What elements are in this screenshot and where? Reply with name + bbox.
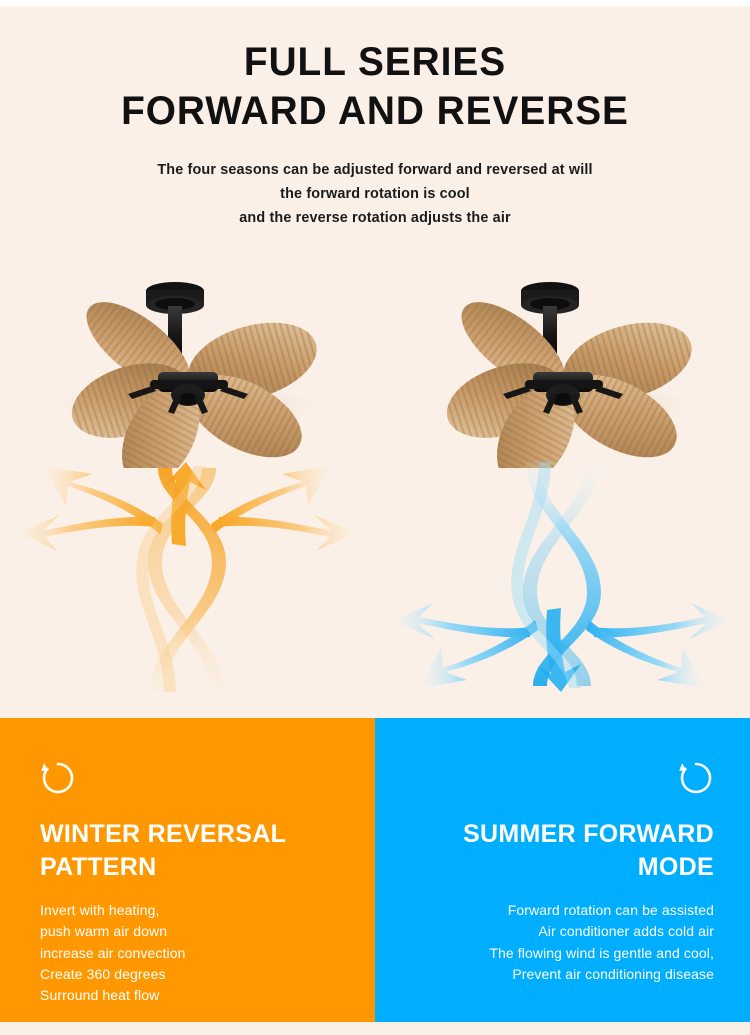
- winter-panel-body: Invert with heating, push warm air down …: [40, 900, 339, 1006]
- upward-airflow-diagram: [0, 462, 375, 692]
- winter-reversal-panel: WINTER REVERSAL PATTERN Invert with heat…: [0, 718, 375, 1022]
- counterclockwise-rotate-icon: [678, 760, 714, 796]
- airflow-ribbon-group: [511, 462, 601, 688]
- counterclockwise-rotate-icon: [40, 760, 76, 796]
- winter-panel-title: WINTER REVERSAL PATTERN: [40, 818, 339, 884]
- winter-body-line-5: Surround heat flow: [40, 985, 339, 1006]
- right-airflow-image: [375, 462, 750, 692]
- airflow-arrow-right: [218, 515, 356, 551]
- summer-body-line-1: Forward rotation can be assisted: [415, 900, 714, 921]
- palm-blade-ceiling-fan-graphic: [0, 268, 375, 468]
- airflow-arrow-left: [393, 603, 531, 639]
- downward-airflow-diagram: [375, 462, 750, 692]
- summer-body-line-2: Air conditioner adds cold air: [415, 921, 714, 942]
- airflow-arrow-right: [593, 603, 731, 639]
- left-airflow-image: [0, 462, 375, 692]
- left-illustration-half: [0, 250, 375, 718]
- winter-body-line-2: push warm air down: [40, 921, 339, 942]
- summer-panel-title: SUMMER FORWARD MODE: [415, 818, 714, 884]
- winter-body-line-3: increase air convection: [40, 943, 339, 964]
- palm-blade-ceiling-fan-graphic: [375, 268, 750, 468]
- winter-title-line-1: WINTER REVERSAL: [40, 818, 339, 851]
- summer-title-line-1: SUMMER FORWARD: [415, 818, 714, 851]
- airflow-ribbon-group: [136, 466, 226, 692]
- page-title-line-1: FULL SERIES: [11, 38, 739, 87]
- top-edge-strip: [0, 0, 750, 6]
- bottom-edge-strip: [0, 1022, 750, 1035]
- left-fan-image: [0, 268, 375, 468]
- subtitle-block: The four seasons can be adjusted forward…: [0, 158, 750, 231]
- winter-body-line-4: Create 360 degrees: [40, 964, 339, 985]
- summer-title-line-2: MODE: [415, 851, 714, 884]
- product-infographic-poster: FULL SERIES FORWARD AND REVERSE The four…: [0, 0, 750, 1035]
- header-block: FULL SERIES FORWARD AND REVERSE The four…: [0, 38, 750, 230]
- subtitle-line-3: and the reverse rotation adjusts the air: [15, 206, 735, 230]
- summer-body-line-4: Prevent air conditioning disease: [415, 964, 714, 985]
- right-illustration-half: [375, 250, 750, 718]
- subtitle-line-1: The four seasons can be adjusted forward…: [15, 158, 735, 182]
- subtitle-line-2: the forward rotation is cool: [15, 182, 735, 206]
- winter-body-line-1: Invert with heating,: [40, 900, 339, 921]
- winter-title-line-2: PATTERN: [40, 851, 339, 884]
- airflow-arrow-left: [18, 515, 156, 551]
- mode-panels: WINTER REVERSAL PATTERN Invert with heat…: [0, 718, 750, 1022]
- summer-body-line-3: The flowing wind is gentle and cool,: [415, 943, 714, 964]
- summer-forward-panel: SUMMER FORWARD MODE Forward rotation can…: [375, 718, 750, 1022]
- page-title-line-2: FORWARD AND REVERSE: [11, 87, 739, 136]
- summer-panel-body: Forward rotation can be assisted Air con…: [415, 900, 714, 985]
- illustration-stage: [0, 250, 750, 718]
- right-fan-image: [375, 268, 750, 468]
